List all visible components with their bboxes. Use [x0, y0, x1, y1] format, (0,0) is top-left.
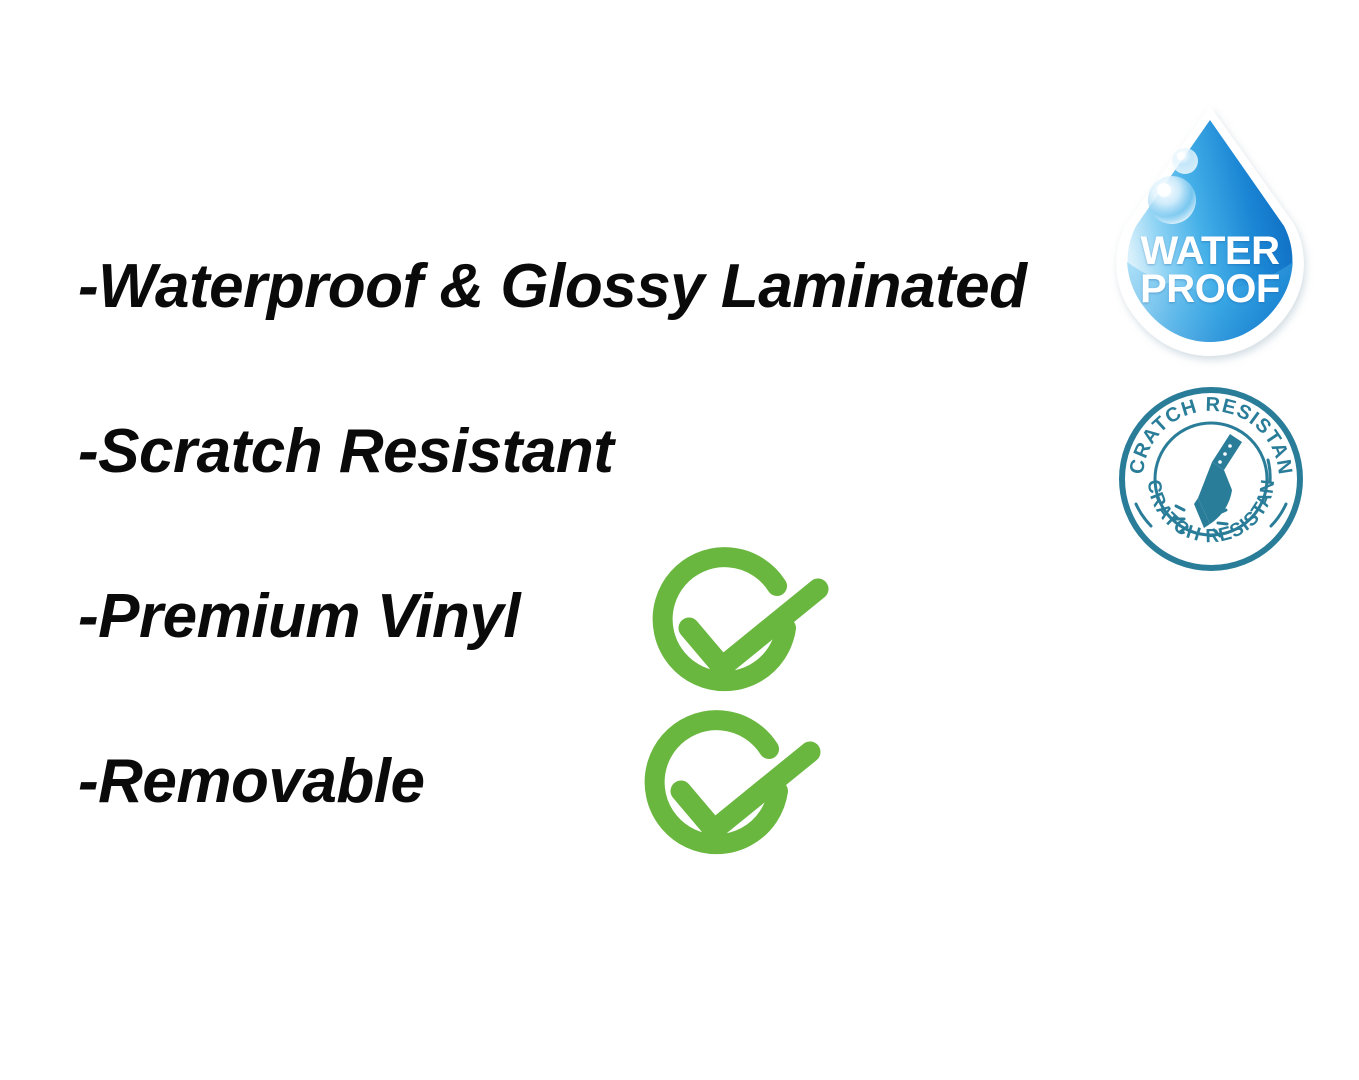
scratch-resistant-badge: SCRATCH RESISTANT SCRATCH RESISTANT [1118, 386, 1304, 572]
checkmark-removable [637, 719, 823, 879]
feature-item-removable: -Removable [78, 751, 1098, 916]
water-drop-icon [1110, 104, 1310, 360]
product-feature-graphic: -Waterproof & Glossy Laminated -Scratch … [0, 0, 1359, 1080]
feature-list: -Waterproof & Glossy Laminated -Scratch … [78, 256, 1098, 916]
water-bubble-large [1148, 176, 1196, 224]
check-circle-icon [645, 556, 831, 716]
feature-item-premium-vinyl: -Premium Vinyl [78, 586, 1098, 751]
check-circle-icon [637, 719, 823, 879]
feature-item-scratch-resistant: -Scratch Resistant [78, 421, 1098, 586]
feature-item-waterproof: -Waterproof & Glossy Laminated [78, 256, 1098, 421]
checkmark-premium-vinyl [645, 556, 831, 716]
waterproof-badge: WATER PROOF [1110, 104, 1310, 360]
water-bubble-small [1172, 148, 1198, 174]
knife-stamp-icon: SCRATCH RESISTANT SCRATCH RESISTANT [1118, 386, 1304, 572]
